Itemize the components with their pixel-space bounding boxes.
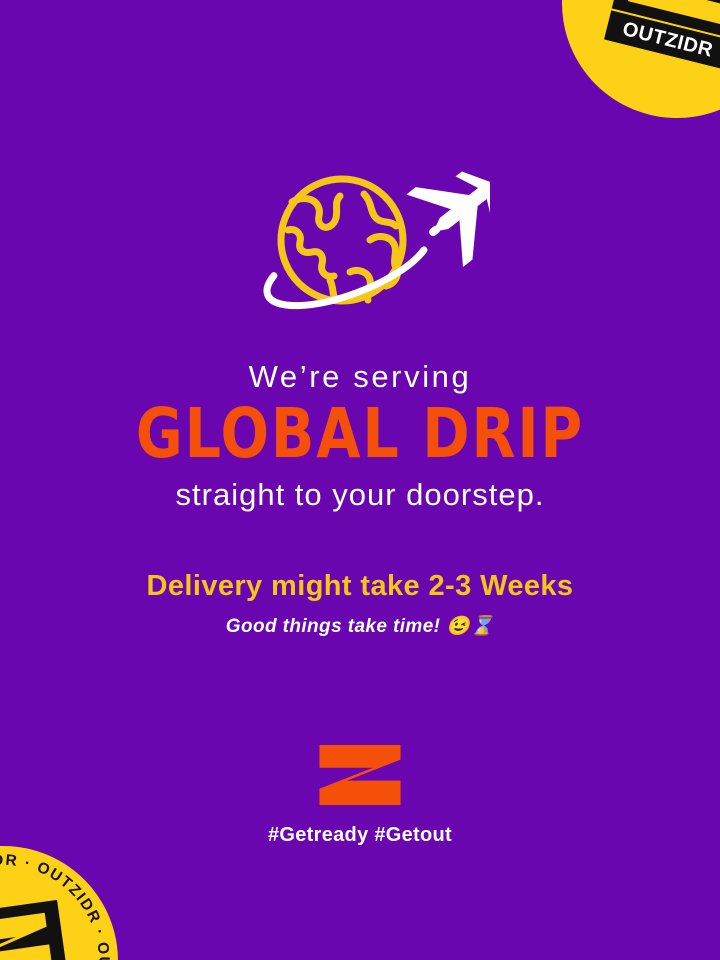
reassurance-text: Good things take time! 😉⌛ [0,614,720,638]
page-title: GLOBAL DRIP [29,400,691,469]
brand-stamp-top-right: OUTZIDR · OUTZIDR · OUTZIDR · OUTZIDR · … [538,0,720,142]
delivery-estimate-text: Delivery might take 2-3 Weeks [0,570,720,603]
outzidr-z-logo-icon [0,910,54,960]
footer-lockup: #Getready #Getout [0,745,720,847]
kicker-text: We’re serving [0,360,720,394]
subline-text: straight to your doorstep. [0,477,720,513]
copy-block: We’re serving GLOBAL DRIP straight to yo… [0,360,720,638]
global-shipping-illustration [230,168,490,343]
promo-poster: OUTZIDR · OUTZIDR · OUTZIDR · OUTZIDR · … [0,0,720,960]
outzidr-z-logo-icon [319,745,401,805]
brand-stamp-bottom-left: OUTZIDR · OUTZIDR · OUTZIDR · OUTZIDR · … [0,831,133,960]
stamp-z-panel [0,900,67,960]
hashtags-text: #Getready #Getout [0,824,720,847]
